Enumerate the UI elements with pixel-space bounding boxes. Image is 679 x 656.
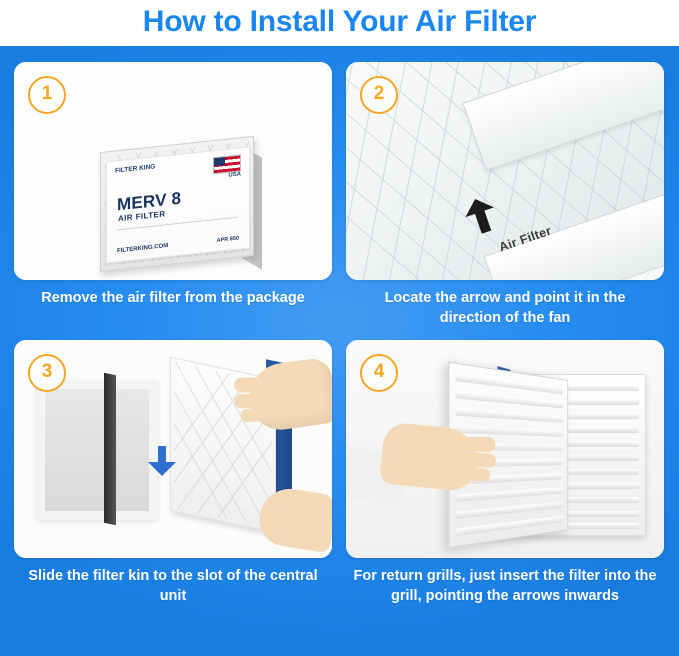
central-unit [36,380,158,520]
step-3: 3 Slide the filter kin to the slot of th… [14,340,332,606]
step-2-badge: 2 [360,76,398,114]
step-1-badge: 1 [28,76,66,114]
product-label: FILTER KING USA MERV 8 AIR FILTER FILTER… [106,146,250,263]
page-title: How to Install Your Air Filter [0,0,679,46]
steps-grid: FILTER KING USA MERV 8 AIR FILTER FILTER… [14,62,665,606]
step-1: FILTER KING USA MERV 8 AIR FILTER FILTER… [14,62,332,328]
step-2: Air Filter 2 Locate the arrow and point … [346,62,664,328]
step-1-card: FILTER KING USA MERV 8 AIR FILTER FILTER… [14,62,332,280]
step-3-caption: Slide the filter kin to the slot of the … [14,567,332,606]
step-4-card: 4 [346,340,664,558]
step-1-caption: Remove the air filter from the package [14,289,332,309]
step-4: 4 For return grills, just insert the fil… [346,340,664,606]
infographic-root: How to Install Your Air Filter [0,0,679,656]
step-2-caption: Locate the arrow and point it in the dir… [346,289,664,328]
usa-text: USA [228,171,241,178]
step-3-card: 3 [14,340,332,558]
insert-direction-arrow-icon [146,446,174,476]
filter-slot [104,373,116,526]
step-2-card: Air Filter 2 [346,62,664,280]
step-4-caption: For return grills, just insert the filte… [346,567,664,606]
website-url: FILTERKING.COM [117,243,168,254]
apr-code: APR 850 [217,236,239,244]
step-4-badge: 4 [360,354,398,392]
step-3-badge: 3 [28,354,66,392]
brand-name: FILTER KING [115,163,155,175]
